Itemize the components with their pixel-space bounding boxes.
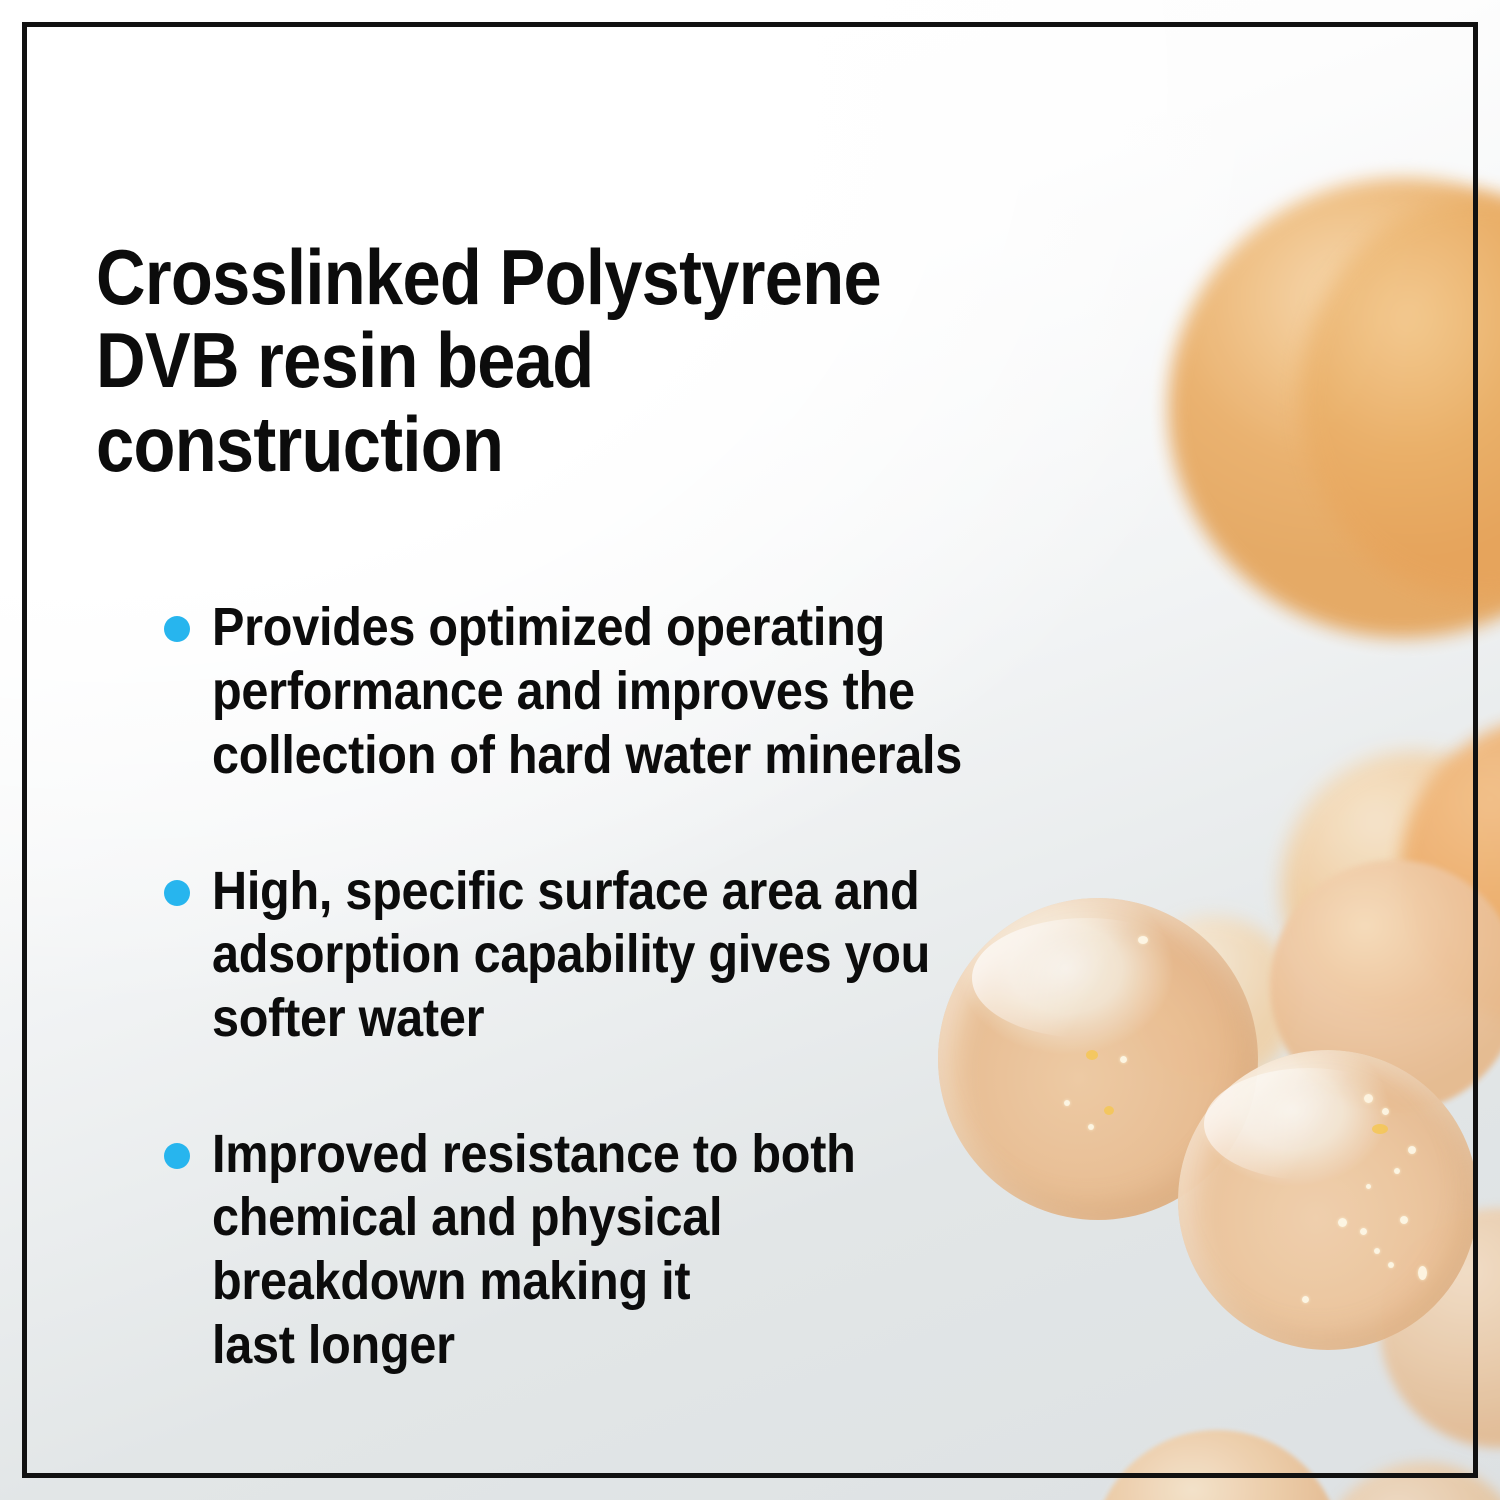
content-block: Crosslinked Polystyrene DVB resin bead c… <box>96 236 1126 1378</box>
bead-bubble <box>1388 1262 1394 1268</box>
bead-bubble <box>1138 936 1148 944</box>
bullet-text: Provides optimized operating performance… <box>212 596 1035 787</box>
bead-glint <box>1372 1124 1388 1134</box>
bead-bubble <box>1394 1168 1400 1174</box>
bullet-text: High, specific surface area and adsorpti… <box>212 860 1035 1051</box>
feature-bullet-list: Provides optimized operating performance… <box>96 596 1126 1377</box>
list-item: High, specific surface area and adsorpti… <box>96 860 1126 1051</box>
bead-bubble <box>1360 1228 1367 1235</box>
resin-bead-foreground-right <box>1178 1050 1478 1350</box>
bead-bubble <box>1382 1108 1389 1115</box>
bead-bubble <box>1366 1184 1371 1189</box>
bullet-dot-icon <box>164 1143 190 1169</box>
bullet-text: Improved resistance to both chemical and… <box>212 1123 1035 1378</box>
bullet-dot-icon <box>164 880 190 906</box>
product-feature-poster: Crosslinked Polystyrene DVB resin bead c… <box>0 0 1500 1500</box>
bead-bubble <box>1400 1216 1408 1224</box>
page-title: Crosslinked Polystyrene DVB resin bead c… <box>96 236 1002 486</box>
bead-bubble <box>1364 1094 1373 1103</box>
bead-bubble <box>1418 1266 1427 1280</box>
list-item: Provides optimized operating performance… <box>96 596 1126 787</box>
bead-bubble <box>1338 1218 1347 1227</box>
bead-bubble <box>1302 1296 1309 1303</box>
bullet-dot-icon <box>164 616 190 642</box>
bead-bubble <box>1408 1146 1416 1154</box>
list-item: Improved resistance to both chemical and… <box>96 1123 1126 1378</box>
bead-bubble <box>1374 1248 1380 1254</box>
